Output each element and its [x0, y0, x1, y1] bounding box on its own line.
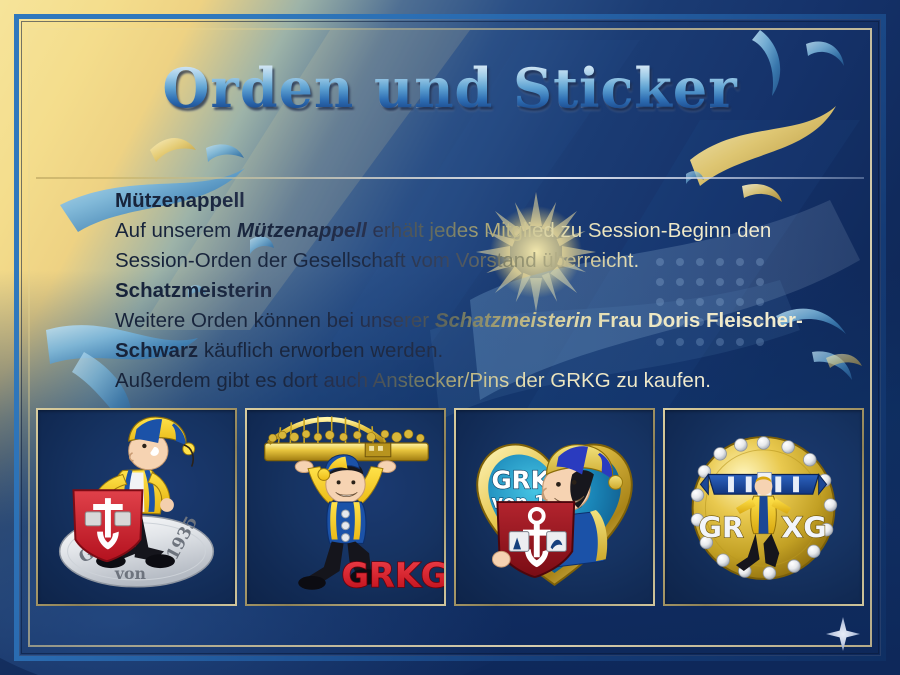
text-seg: Weitere Orden können bei unserer	[115, 309, 435, 332]
grkg-red-letters: GRKG	[342, 556, 444, 595]
paragraph-muetzenappell-line2: Session-Orden der Gesellschaft vom Vorst…	[115, 246, 840, 276]
gallery-item-2[interactable]: GRKG	[245, 408, 446, 606]
text-strong-schwarz: Schwarz	[115, 339, 198, 362]
text-emph-schatzmeisterin: Schatzmeisterin	[435, 309, 592, 332]
heading-schatzmeisterin: Schatzmeisterin	[115, 276, 840, 306]
round-rhinestone-medal-pin-icon: GR XG	[665, 410, 862, 604]
figure-lifting-bridge-pin-icon: GRKG	[247, 410, 444, 604]
medal-letters-right: XG	[781, 511, 826, 545]
paragraph-muetzenappell-line1: Auf unserem Mützenappell erhält jedes Mi…	[115, 216, 840, 246]
page-title: Orden und Sticker	[162, 56, 737, 120]
heading-muetzenappell: Mützenappell	[115, 186, 840, 216]
page-title-wrap: Orden und Sticker	[0, 56, 900, 126]
text-emph-muetzenappell: Mützenappell	[237, 219, 367, 242]
gallery-item-3[interactable]: GRKG von 1935	[454, 408, 655, 606]
heart-badge-pin-icon: GRKG von 1935	[456, 410, 653, 604]
body-text: Mützenappell Auf unserem Mützenappell er…	[115, 186, 840, 396]
title-separator	[36, 177, 864, 179]
svg-text:GRKG: GRKG	[342, 556, 444, 595]
paragraph-schatzmeisterin-line3: Außerdem gibt es dort auch Anstecker/Pin…	[115, 366, 840, 396]
gallery-item-4[interactable]: GR XG	[663, 408, 864, 606]
gallery-item-1[interactable]: GRKG von 1935	[36, 408, 237, 606]
paragraph-schatzmeisterin-line2: Schwarz käuflich erworben werden.	[115, 336, 840, 366]
text-strong-name: Frau Doris Fleischer-	[592, 309, 803, 332]
text-seg: käuflich erworben werden.	[198, 339, 443, 362]
slide-canvas: Orden und Sticker Mützenappell Auf unser…	[0, 0, 900, 675]
carnival-figure-shield-pin-icon: GRKG von 1935	[38, 410, 235, 604]
paragraph-schatzmeisterin-line1: Weitere Orden können bei unserer Schatzm…	[115, 306, 840, 336]
diamond-sparkle-icon	[826, 617, 860, 651]
text-seg: erhält jedes Mitglied zu Session-Beginn …	[367, 219, 772, 242]
medal-gallery: GRKG von 1935	[36, 408, 864, 606]
medal-letters-left: GR	[698, 511, 743, 545]
text-seg: Auf unserem	[115, 219, 237, 242]
